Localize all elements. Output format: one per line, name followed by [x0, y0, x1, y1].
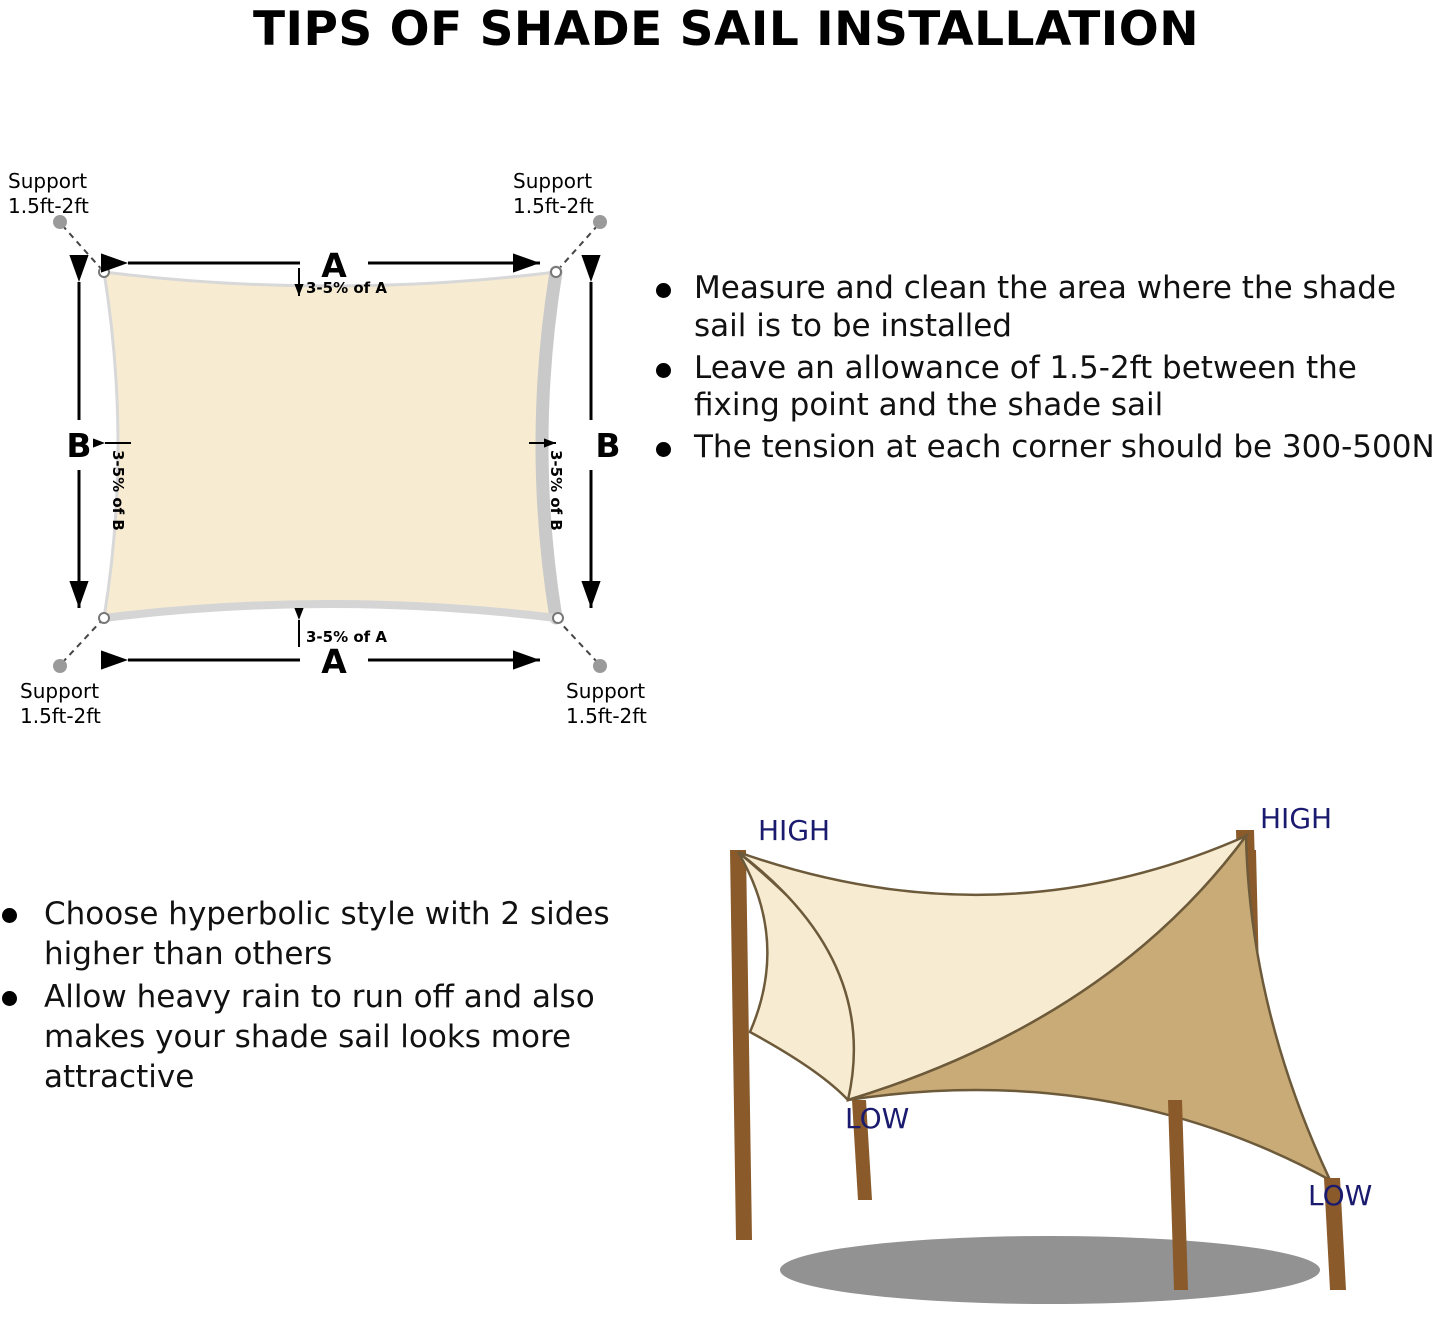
- label-high-left: HIGH: [758, 814, 830, 847]
- hyperbolic-shade-sail-diagram: HIGH HIGH LOW LOW: [640, 770, 1452, 1325]
- ground-shadow: [780, 1236, 1320, 1304]
- support-label-top-left: Support 1.5ft-2ft: [8, 169, 89, 218]
- label-high-right: HIGH: [1260, 802, 1332, 835]
- dim-label-bottom-A: A: [321, 642, 347, 681]
- post-high-left: [730, 850, 752, 1240]
- svg-text:1.5ft-2ft: 1.5ft-2ft: [20, 704, 101, 728]
- tips-list-right: Measure and clean the area where the sha…: [648, 270, 1448, 471]
- svg-text:1.5ft-2ft: 1.5ft-2ft: [513, 194, 594, 218]
- svg-text:Support: Support: [566, 679, 645, 703]
- list-item: Choose hyperbolic style with 2 sides hig…: [0, 895, 625, 974]
- label-low-left: LOW: [845, 1102, 909, 1135]
- list-item: Leave an allowance of 1.5-2ft between th…: [648, 350, 1448, 426]
- curve-label-top: 3-5% of A: [306, 279, 387, 297]
- svg-text:1.5ft-2ft: 1.5ft-2ft: [566, 704, 647, 728]
- support-label-bottom-right: Support 1.5ft-2ft: [566, 679, 647, 728]
- curve-label-left: 3-5% of B: [109, 450, 127, 531]
- page-title: TIPS OF SHADE SAIL INSTALLATION: [0, 2, 1452, 57]
- svg-text:1.5ft-2ft: 1.5ft-2ft: [8, 194, 89, 218]
- svg-text:Support: Support: [513, 169, 592, 193]
- support-dot: [593, 659, 607, 673]
- label-low-right: LOW: [1308, 1179, 1372, 1212]
- curve-label-bottom: 3-5% of A: [306, 628, 387, 646]
- tips-list-left: Choose hyperbolic style with 2 sides hig…: [0, 895, 625, 1101]
- list-item: Allow heavy rain to run off and also mak…: [0, 978, 625, 1097]
- support-label-top-right: Support 1.5ft-2ft: [513, 169, 594, 218]
- dim-label-right-B: B: [595, 426, 620, 465]
- dim-label-left-B: B: [66, 426, 91, 465]
- support-dot: [593, 215, 607, 229]
- shade-sail-dimensions-diagram: A A B B 3-5% of A 3-5% of A 3-5% of B 3-…: [0, 160, 660, 740]
- support-dot: [53, 659, 67, 673]
- list-item: The tension at each corner should be 300…: [648, 429, 1448, 467]
- sail-edge-right: [542, 272, 556, 618]
- support-label-bottom-left: Support 1.5ft-2ft: [20, 679, 101, 728]
- curve-label-right: 3-5% of B: [547, 450, 565, 531]
- svg-text:Support: Support: [20, 679, 99, 703]
- list-item: Measure and clean the area where the sha…: [648, 270, 1448, 346]
- svg-text:Support: Support: [8, 169, 87, 193]
- sail-shape: [104, 272, 556, 618]
